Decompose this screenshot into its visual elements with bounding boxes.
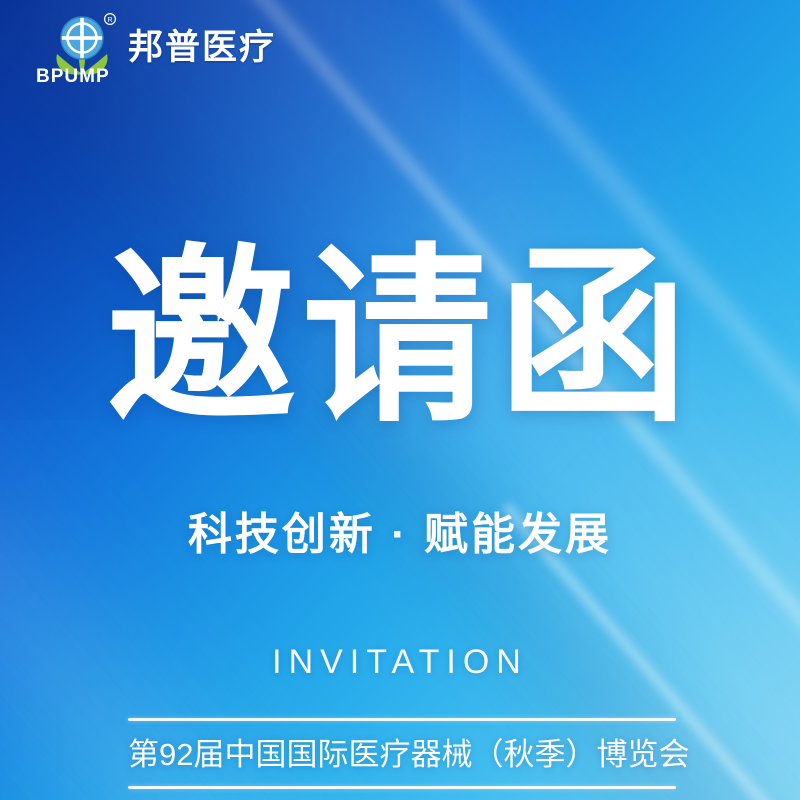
invitation-label: INVITATION — [0, 645, 800, 679]
company-name: 邦普医疗 — [128, 30, 276, 65]
svg-text:R: R — [107, 17, 112, 24]
invitation-poster: R 邦普医疗 BPUMP 邀请函 科技创新 · 赋能发展 INVITATION … — [0, 0, 800, 800]
footer-block: 第92届中国国际医疗器械（秋季）博览会 — [128, 718, 676, 789]
footer-rule-bottom — [128, 786, 676, 789]
event-name: 第92届中国国际医疗器械（秋季）博览会 — [128, 721, 676, 786]
page-title: 邀请函 — [0, 243, 800, 433]
page-subtitle: 科技创新 · 赋能发展 — [0, 513, 800, 557]
logo-wordmark: BPUMP — [36, 66, 110, 88]
company-name-text: 邦普医疗 — [128, 28, 276, 67]
